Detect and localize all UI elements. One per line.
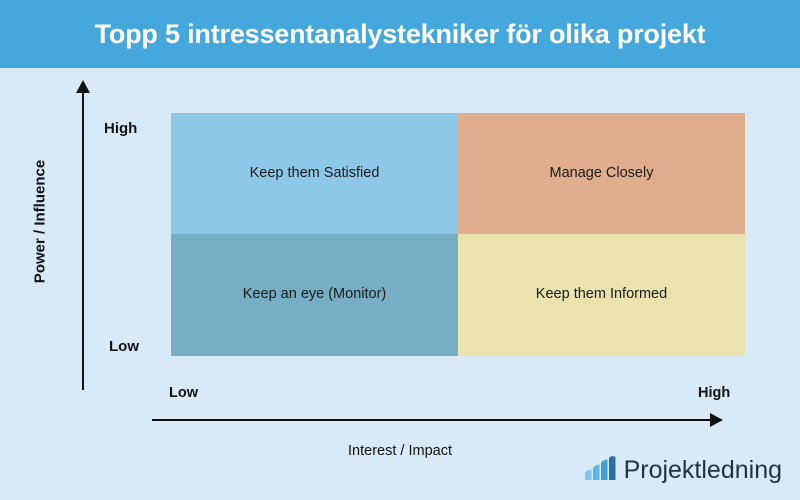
y-axis-tick-low: Low [109, 338, 139, 355]
quadrant-label: Keep an eye (Monitor) [243, 286, 386, 303]
quadrant-manage-closely[interactable]: Manage Closely [458, 113, 745, 234]
quadrant-keep-them-satisfied[interactable]: Keep them Satisfied [171, 113, 458, 234]
quadrant-keep-an-eye-monitor[interactable]: Keep an eye (Monitor) [171, 234, 458, 356]
chart-canvas: Power / Influence High Low Keep them Sat… [0, 68, 800, 500]
page-title: Topp 5 intressentanalystekniker för olik… [95, 19, 706, 50]
y-axis-line [82, 90, 84, 390]
bar-chart-icon [585, 456, 619, 482]
x-axis-line [152, 419, 712, 421]
quadrant-label: Keep them Informed [536, 286, 667, 303]
brand-logo: Projektledning [585, 456, 782, 482]
x-axis-arrow-icon [710, 413, 723, 427]
stakeholder-matrix: Keep them Satisfied Manage Closely Keep … [171, 113, 745, 356]
x-axis-tick-high: High [698, 385, 730, 401]
x-axis-tick-low: Low [169, 385, 198, 401]
quadrant-keep-them-informed[interactable]: Keep them Informed [458, 234, 745, 356]
quadrant-label: Manage Closely [550, 165, 654, 182]
quadrant-label: Keep them Satisfied [250, 165, 380, 182]
y-axis-tick-high: High [104, 120, 137, 137]
brand-logo-text: Projektledning [624, 458, 782, 483]
y-axis-title: Power / Influence [32, 137, 49, 307]
header-bar: Topp 5 intressentanalystekniker för olik… [0, 0, 800, 68]
